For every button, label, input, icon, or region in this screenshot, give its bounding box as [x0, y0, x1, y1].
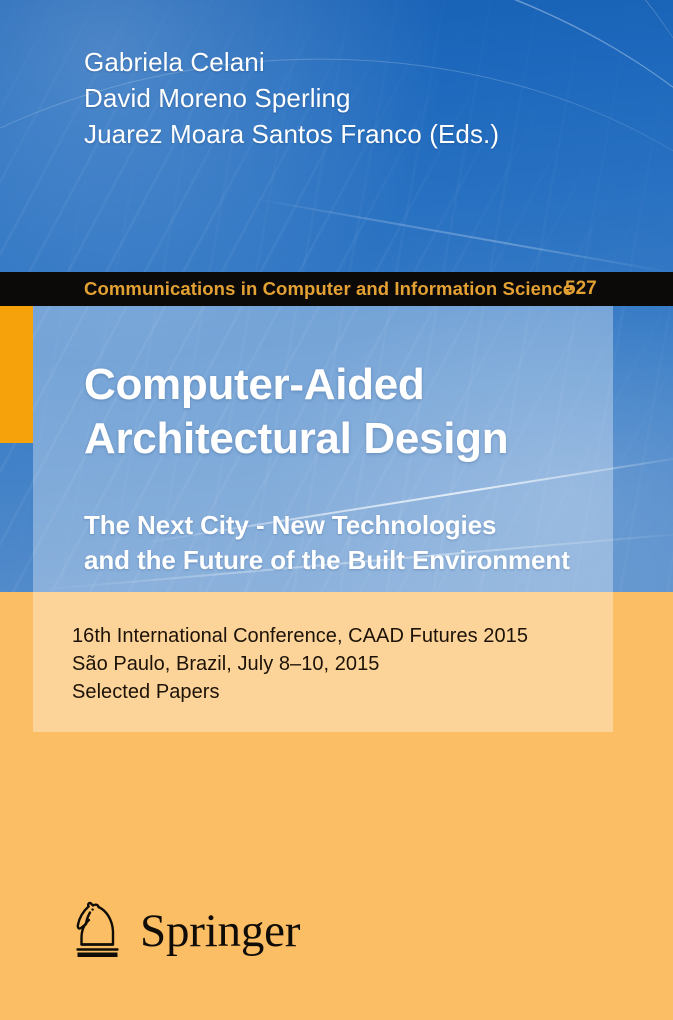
book-cover: Gabriela Celani David Moreno Sperling Ju… — [0, 0, 673, 1020]
series-title: Communications in Computer and Informati… — [84, 278, 573, 300]
publisher-logo: Springer — [68, 900, 300, 962]
book-title-line-1: Computer-Aided — [84, 358, 624, 412]
editor-name-3: Juarez Moara Santos Franco (Eds.) — [84, 116, 624, 152]
conference-line-1: 16th International Conference, CAAD Futu… — [72, 622, 528, 650]
orange-accent-chip — [0, 306, 33, 443]
book-subtitle-line-2: and the Future of the Built Environment — [84, 543, 624, 578]
conference-line-2: São Paulo, Brazil, July 8–10, 2015 — [72, 650, 528, 678]
conference-details: 16th International Conference, CAAD Futu… — [72, 622, 528, 706]
book-title-line-2: Architectural Design — [84, 412, 624, 466]
series-band: Communications in Computer and Informati… — [0, 272, 673, 306]
editor-name-1: Gabriela Celani — [84, 44, 624, 80]
publisher-name: Springer — [140, 908, 300, 955]
book-subtitle: The Next City - New Technologies and the… — [84, 508, 624, 578]
springer-knight-icon — [68, 900, 126, 962]
book-subtitle-line-1: The Next City - New Technologies — [84, 508, 624, 543]
editor-name-2: David Moreno Sperling — [84, 80, 624, 116]
editors-block: Gabriela Celani David Moreno Sperling Ju… — [84, 44, 624, 152]
book-title: Computer-Aided Architectural Design — [84, 358, 624, 466]
series-volume-number: 527 — [565, 278, 597, 300]
conference-line-3: Selected Papers — [72, 678, 528, 706]
